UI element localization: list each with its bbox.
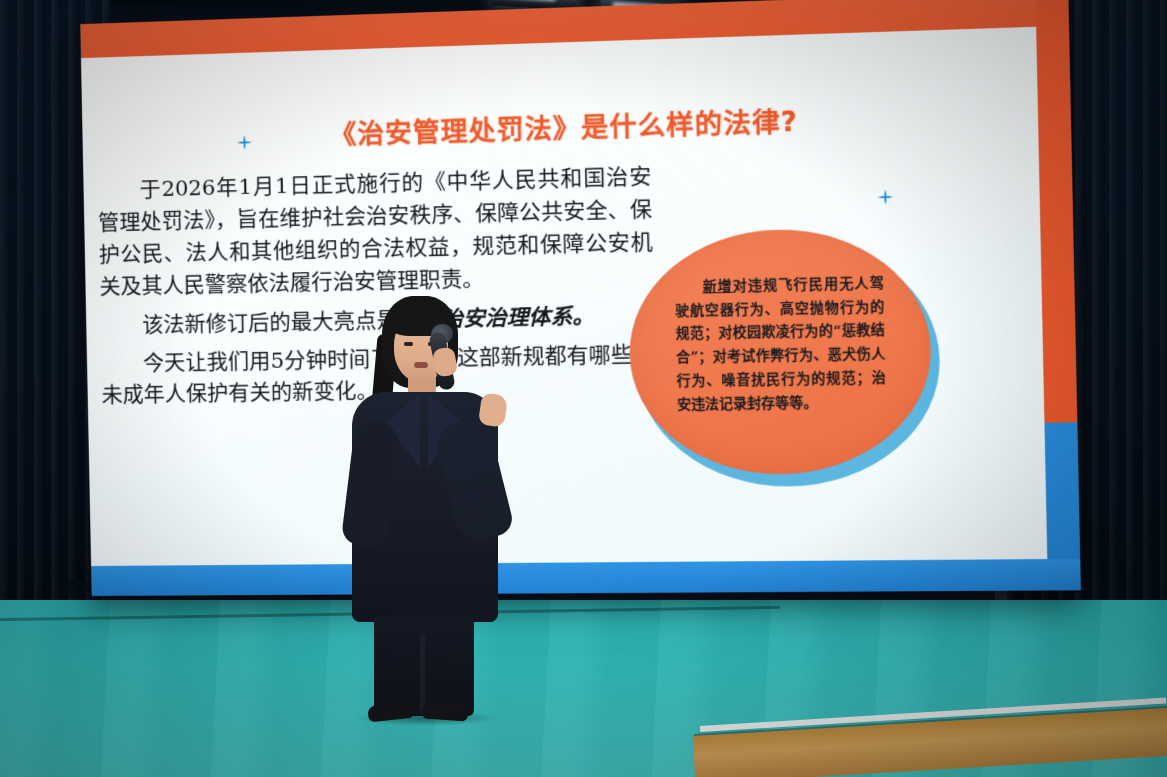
- sparkle-decoration-left: [233, 131, 256, 154]
- slide-frame: 《治安管理处罚法》是什么样的法律? 于2026年1月1日正式施行的《中华人民共和…: [80, 0, 1081, 596]
- sparkle-decoration-right: [873, 185, 897, 208]
- callout-text: 新增对违规飞行民用无人驾驶航空器行为、高空抛物行为的规范；对校园欺凌行为的“惩教…: [675, 273, 887, 418]
- presenter-leg-gap: [420, 636, 425, 714]
- slide-title: 《治安管理处罚法》是什么样的法律?: [329, 99, 1005, 154]
- presenter-eye-left: [404, 342, 413, 346]
- slide-paragraph-1: 于2026年1月1日正式施行的《中华人民共和国治安管理处罚法》，旨在维护社会治安…: [97, 161, 653, 304]
- callout-emphasis: 新增: [703, 279, 734, 295]
- slide-body: 《治安管理处罚法》是什么样的法律? 于2026年1月1日正式施行的《中华人民共和…: [81, 27, 1047, 566]
- callout-body: 对违规飞行民用无人驾驶航空器行为、高空抛物行为的规范；对校园欺凌行为的“惩教结合…: [675, 276, 886, 413]
- presenter-mouth: [414, 362, 428, 368]
- projection-screen: 《治安管理处罚法》是什么样的法律? 于2026年1月1日正式施行的《中华人民共和…: [80, 0, 1081, 596]
- presenter-shoe-right: [421, 702, 468, 721]
- presenter: [330, 296, 520, 716]
- slide-callout-ellipse: 新增对违规飞行民用无人驾驶航空器行为、高空抛物行为的规范；对校园欺凌行为的“惩教…: [627, 226, 942, 488]
- stage-presentation-photo: 《治安管理处罚法》是什么样的法律? 于2026年1月1日正式施行的《中华人民共和…: [0, 0, 1167, 777]
- slide-bottom-bar: [91, 559, 1081, 596]
- presenter-hand-gesturing: [478, 392, 508, 427]
